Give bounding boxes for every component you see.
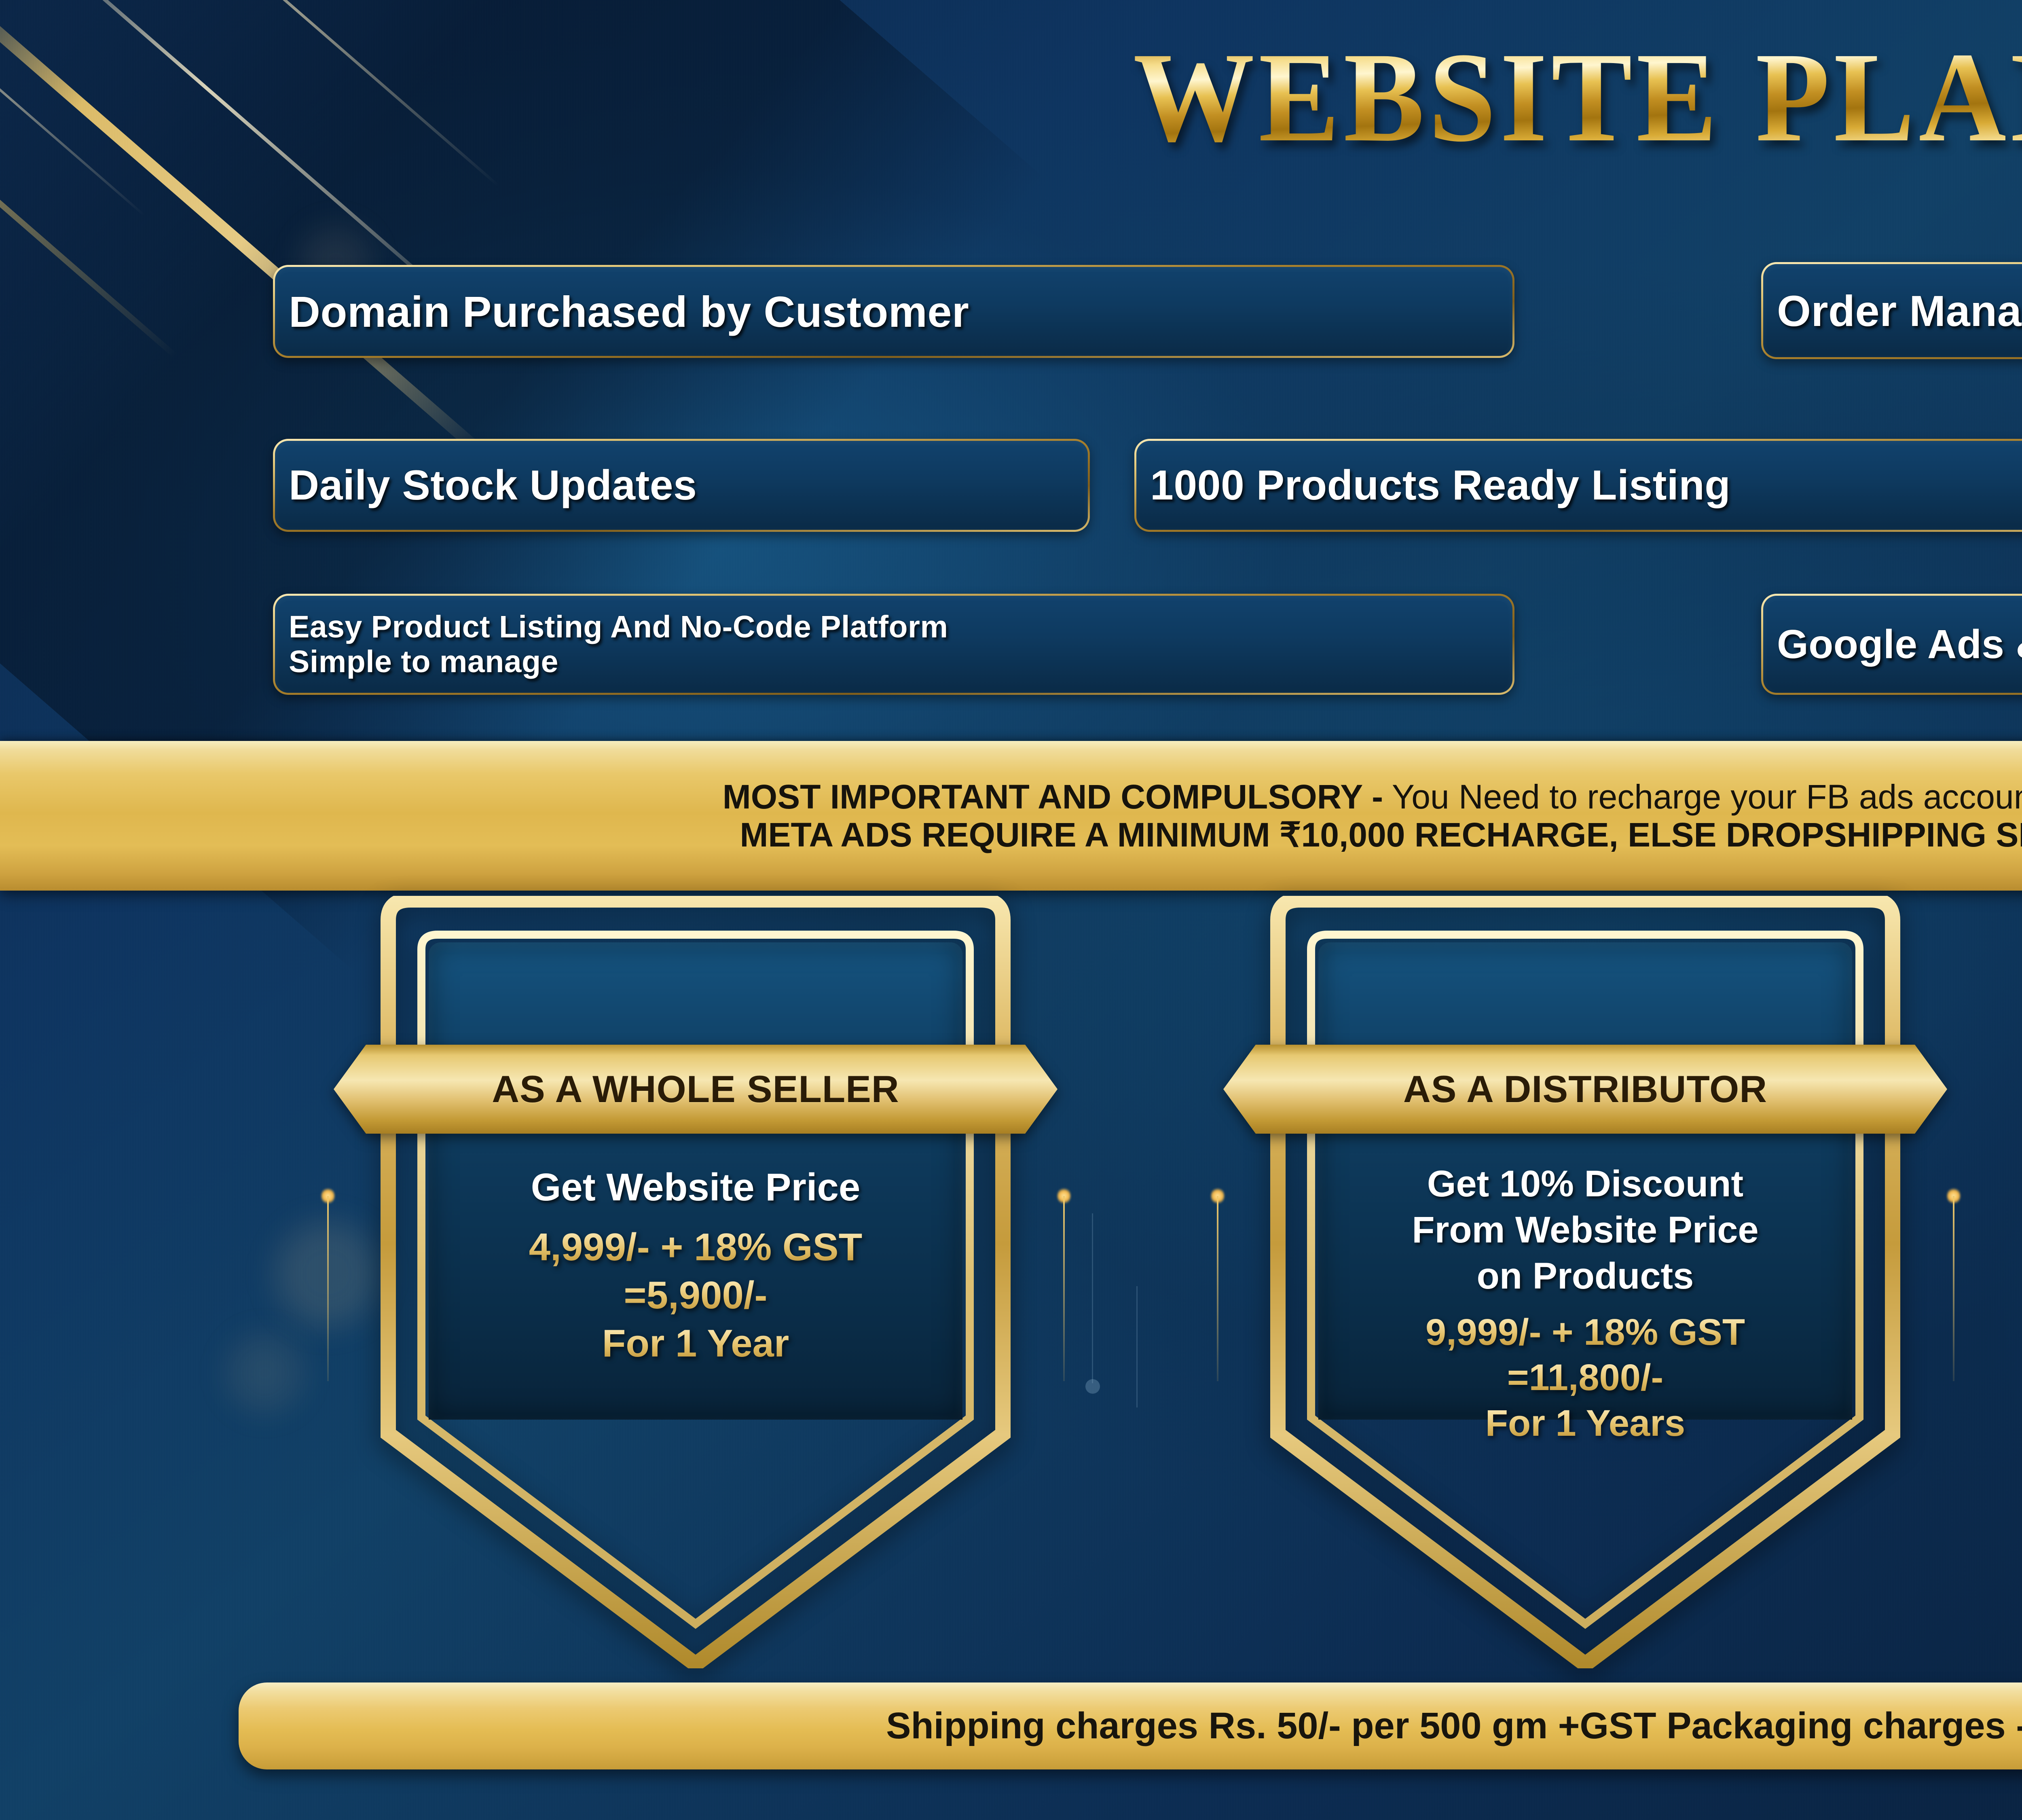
plan-card-whole-seller[interactable]: AS A WHOLE SELLER Get Website Price 4,99… xyxy=(319,896,1072,1668)
feature-pill-label: Daily Stock Updates xyxy=(275,461,711,510)
bokeh-glow xyxy=(226,1335,303,1412)
shipping-charges-label: Shipping charges Rs. 50/- per 500 gm +GS… xyxy=(886,1705,2022,1747)
plan-white-line: on Products xyxy=(1258,1253,1913,1299)
feature-pill-easy-product-listing[interactable]: Easy Product Listing And No-Code Platfor… xyxy=(273,594,1514,695)
plan-ribbon-whole-seller: AS A WHOLE SELLER xyxy=(334,1041,1058,1138)
notice-line-1: MOST IMPORTANT AND COMPULSORY - You Need… xyxy=(723,778,2022,816)
plan-body-whole-seller: Get Website Price 4,999/- + 18% GST =5,9… xyxy=(384,1163,1007,1367)
plan-body-distributor: Get 10% Discount From Website Price on P… xyxy=(1258,1161,1913,1446)
plan-card-distributor[interactable]: AS A DISTRIBUTOR Get 10% Discount From W… xyxy=(1209,896,1961,1668)
pin-right xyxy=(1051,1187,1076,1381)
feature-pill-label: 1000 Products Ready Listing xyxy=(1136,461,1744,510)
notice-line-2: META ADS REQUIRE A MINIMUM ₹10,000 RECHA… xyxy=(740,816,2022,854)
notice-line-1-normal: You Need to recharge your FB ads account… xyxy=(1383,778,2022,816)
plan-gold-line: For 1 Year xyxy=(384,1319,1007,1367)
feature-pill-order-management[interactable]: Order Management Panel No MonthlyHosting… xyxy=(1761,262,2022,359)
plan-gold-line: =11,800/- xyxy=(1258,1355,1913,1400)
feature-pill-sublabel: Simple to manage xyxy=(289,644,948,679)
plan-ribbon-distributor: AS A DISTRIBUTOR xyxy=(1223,1041,1947,1138)
feature-pill-label-block: Easy Product Listing And No-Code Platfor… xyxy=(275,609,962,679)
plan-gold-line: =5,900/- xyxy=(384,1271,1007,1319)
plan-ribbon-label: AS A WHOLE SELLER xyxy=(492,1067,899,1111)
circuit-trace xyxy=(1136,1286,1138,1407)
pin-left xyxy=(315,1187,340,1381)
compulsory-notice-banner: MOST IMPORTANT AND COMPULSORY - You Need… xyxy=(0,741,2022,891)
notice-line-1-strong: MOST IMPORTANT AND COMPULSORY - xyxy=(723,778,1383,816)
feature-pill-label: Order Management Panel xyxy=(1763,286,2022,336)
feature-pill-google-ads-meta-pixel[interactable]: Google Ads & Meta Pixel Integration xyxy=(1761,594,2022,695)
page-title: WEBSITE PLAN xyxy=(1133,33,2022,161)
plan-gold-line: 4,999/- + 18% GST xyxy=(384,1223,1007,1271)
pin-right xyxy=(1941,1187,1965,1381)
shipping-charges-banner: Shipping charges Rs. 50/- per 500 gm +GS… xyxy=(239,1682,2022,1769)
pin-left xyxy=(1205,1187,1229,1381)
feature-pill-label: Domain Purchased by Customer xyxy=(275,286,983,337)
plan-gold-line: For 1 Years xyxy=(1258,1401,1913,1446)
circuit-node xyxy=(1085,1379,1100,1394)
plan-white-line: Get 10% Discount xyxy=(1258,1161,1913,1207)
plan-white-line: From Website Price xyxy=(1258,1207,1913,1253)
feature-pill-daily-stock[interactable]: Daily Stock Updates xyxy=(273,439,1090,532)
plan-gold-line: 9,999/- + 18% GST xyxy=(1258,1310,1913,1355)
circuit-trace xyxy=(1092,1213,1093,1383)
feature-pill-label: Easy Product Listing And No-Code Platfor… xyxy=(289,609,948,644)
feature-pill-1000-products[interactable]: 1000 Products Ready Listing xyxy=(1134,439,2022,532)
feature-pill-label: Google Ads & Meta Pixel Integration xyxy=(1763,621,2022,668)
feature-pill-domain-purchased[interactable]: Domain Purchased by Customer xyxy=(273,265,1514,358)
page-title-wrap: WEBSITE PLAN xyxy=(0,36,2022,158)
plan-white-line: Get Website Price xyxy=(384,1163,1007,1213)
plan-ribbon-label: AS A DISTRIBUTOR xyxy=(1403,1067,1767,1111)
